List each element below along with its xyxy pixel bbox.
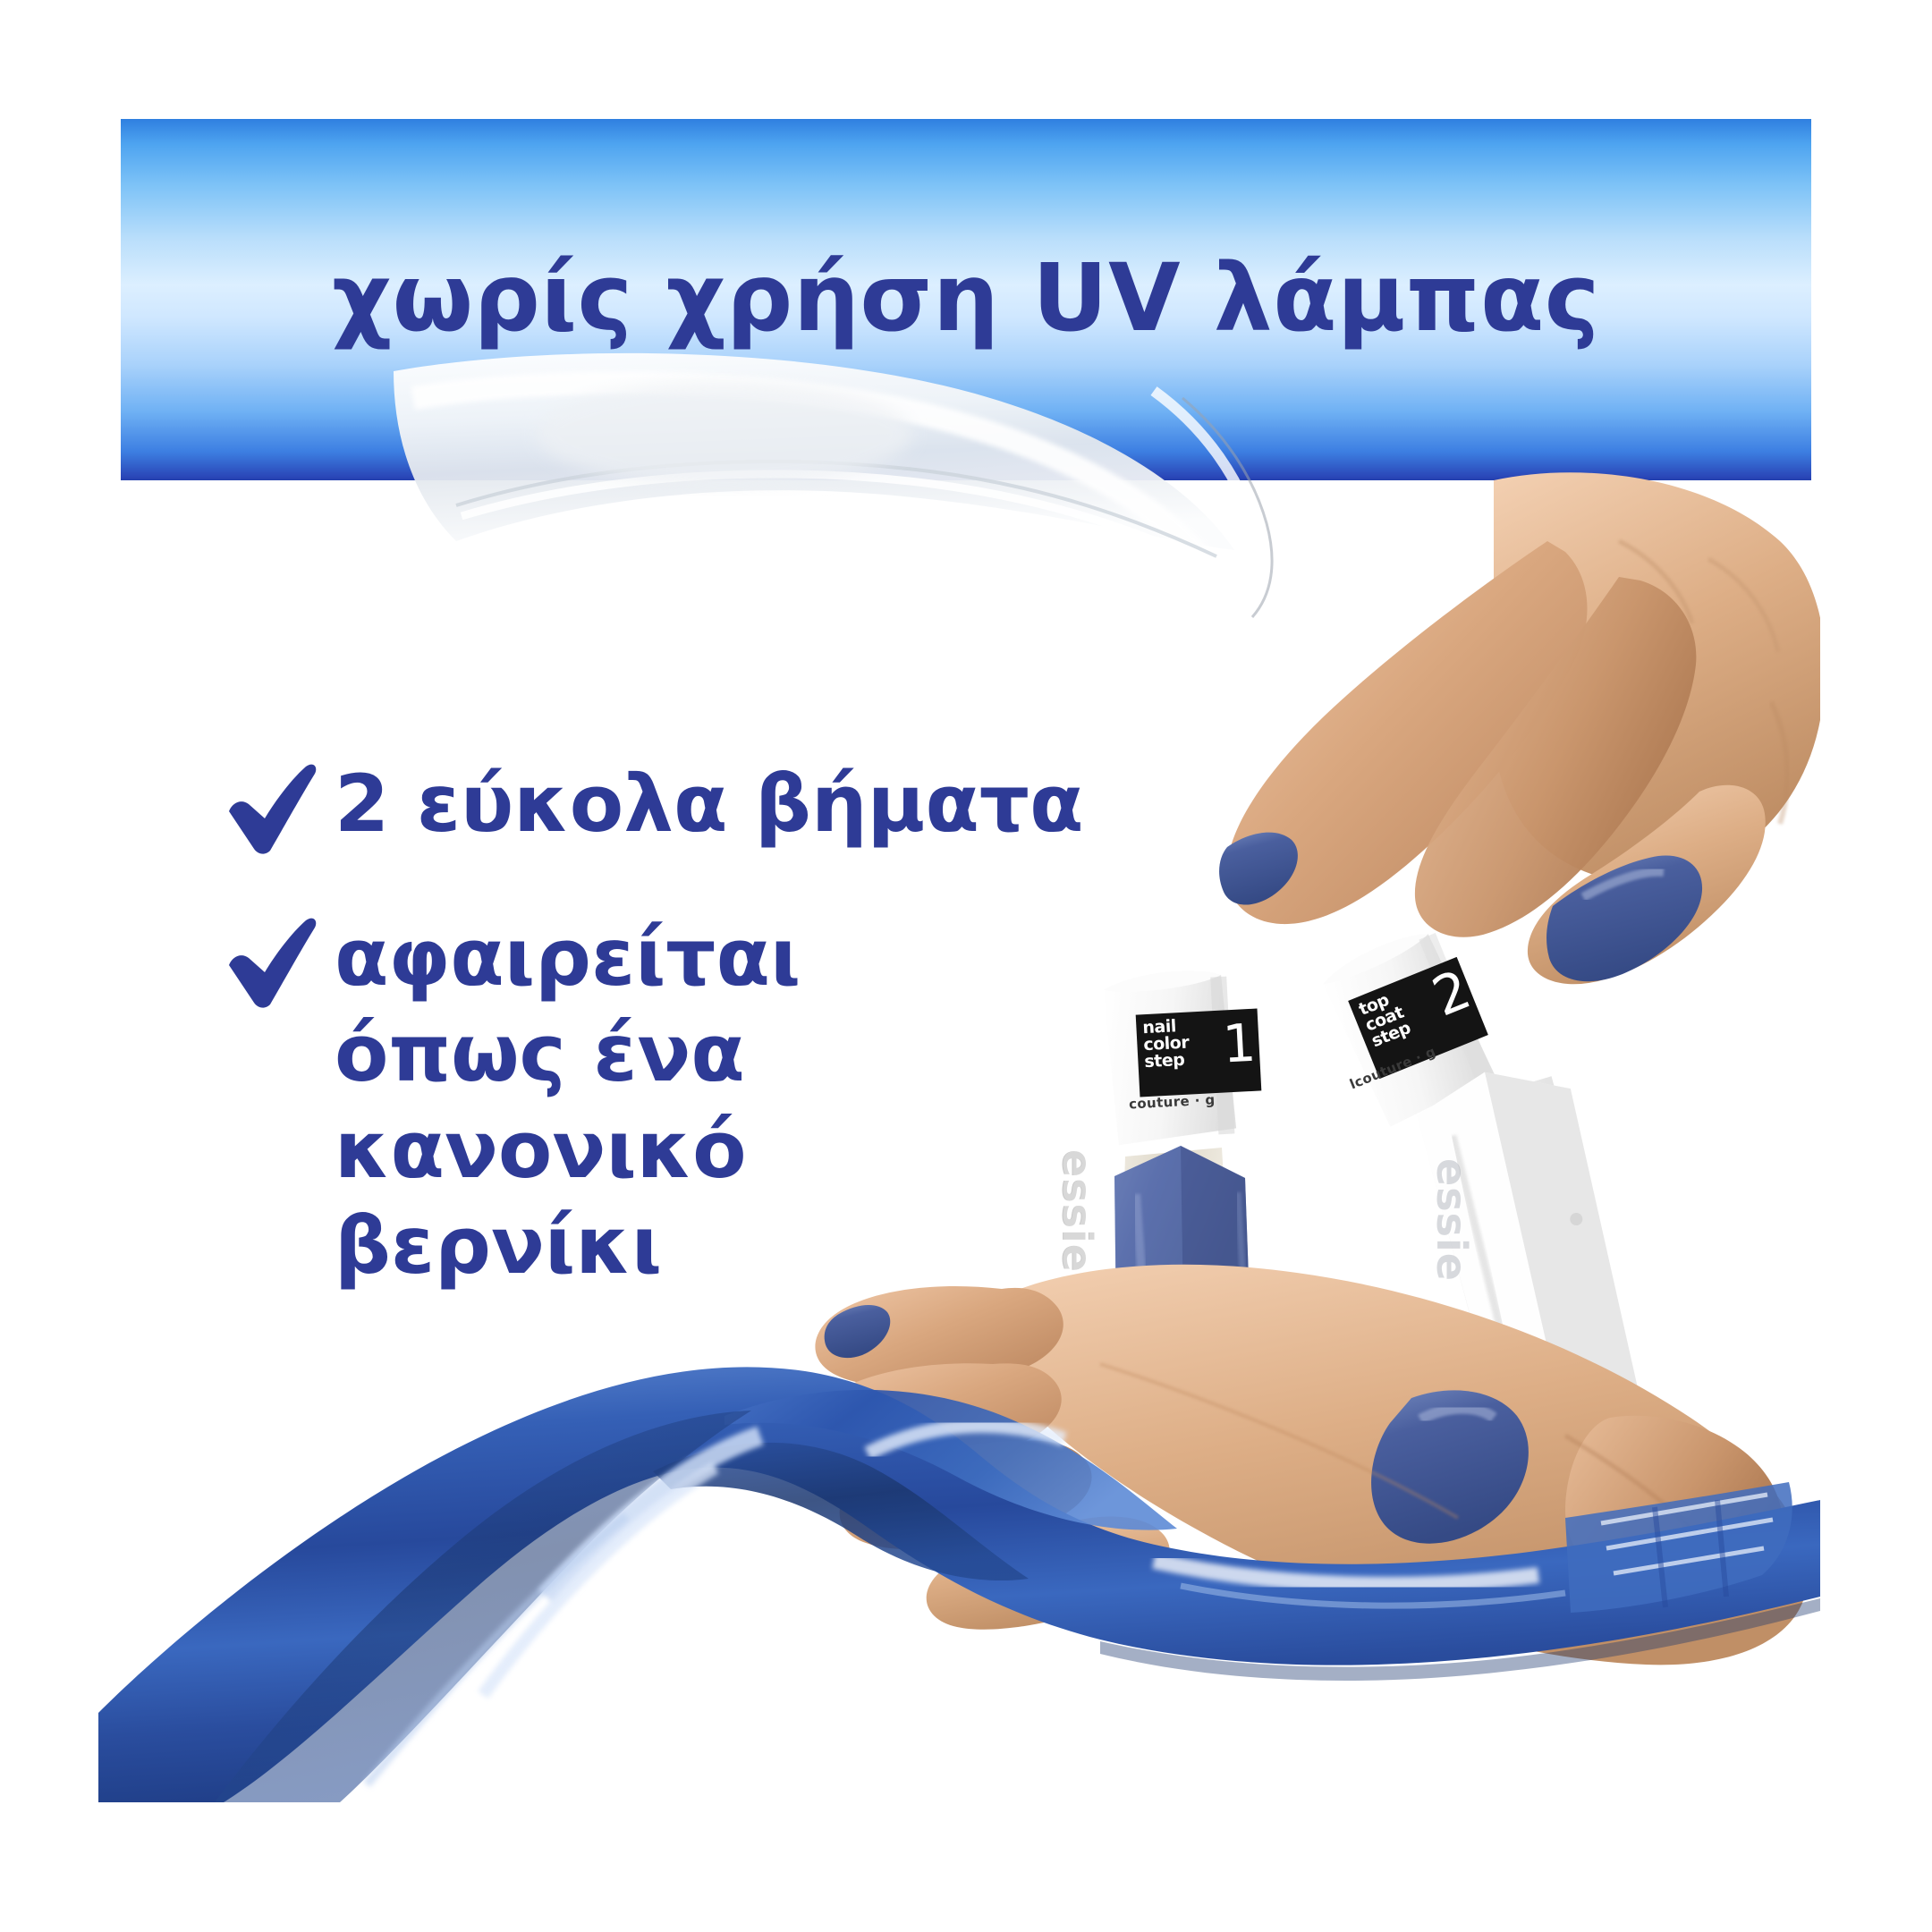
bottle-1-step-number: 1 <box>1222 1017 1257 1071</box>
banner-title: χωρίς χρήση UV λάμπας <box>121 251 1811 344</box>
check-icon <box>224 915 320 1008</box>
bottle-1-sub-label: couture · g <box>1129 1091 1216 1112</box>
check-icon <box>224 761 320 854</box>
essie-logo-white-bottle: essie <box>1428 1158 1476 1282</box>
hand-holding-bottle-caps <box>1219 472 1820 984</box>
list-item-label: αφαιρείται όπως ένα κανονικό βερνίκι <box>335 910 979 1293</box>
blue-polish-wave <box>98 1367 1820 1802</box>
bottle-1-label: nail color step 1 <box>1136 1009 1262 1097</box>
list-item: 2 εύκολα βήματα <box>224 756 1118 854</box>
image-content-area: χωρίς χρήση UV λάμπας <box>98 76 1820 1820</box>
list-item-label: 2 εύκολα βήματα <box>335 756 1084 852</box>
product-banner-image: χωρίς χρήση UV λάμπας <box>0 0 1932 1932</box>
list-item: αφαιρείται όπως ένα κανονικό βερνίκι <box>224 910 1118 1293</box>
benefits-list: 2 εύκολα βήματα αφαιρείται όπως ένα κανο… <box>224 756 1118 1349</box>
header-banner: χωρίς χρήση UV λάμπας <box>121 119 1811 480</box>
